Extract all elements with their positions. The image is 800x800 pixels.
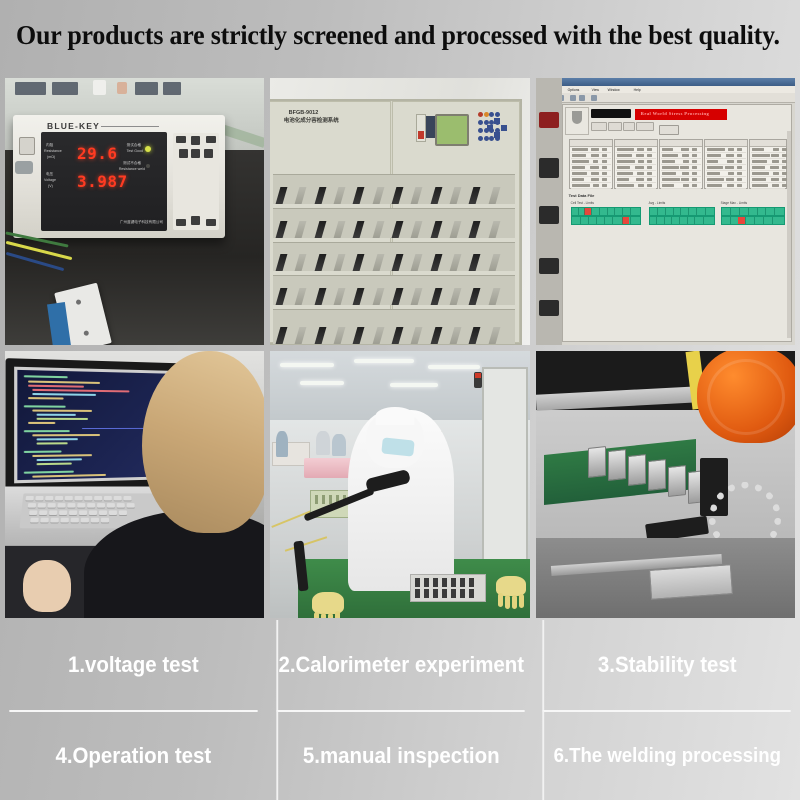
keypad-key-right[interactable]	[204, 149, 213, 158]
cabinet-model-label: BFGB-9012	[289, 109, 319, 117]
device-keypad[interactable]	[173, 133, 219, 230]
shelf-object	[135, 82, 158, 95]
dpad-down[interactable]	[494, 132, 500, 138]
control-button[interactable]	[591, 122, 607, 131]
photo-voltage-test: BLUE-KEY 内阻 Resistance (mΩ) 29.6 电压 Volt…	[5, 78, 264, 345]
data-table[interactable]	[569, 139, 613, 189]
voltage-readout: 3.987	[77, 172, 128, 191]
background-operator	[332, 434, 346, 456]
panel-button[interactable]	[478, 128, 483, 133]
mounting-plate	[649, 564, 733, 600]
test-fail-label: 测试不合格	[123, 161, 141, 166]
photo-stability-test: FileTest OptionsView WindowHelp	[536, 78, 795, 345]
software-workspace: Real World Stress Processing	[562, 104, 792, 342]
weld-fixture	[668, 465, 686, 497]
equipment-rack	[482, 367, 528, 581]
sidebar-button-graph[interactable]	[539, 258, 559, 274]
status-led-indicator	[145, 146, 151, 152]
benchmark-badge	[591, 109, 631, 118]
shelf-cup	[117, 82, 127, 94]
keypad-key-enter[interactable]	[191, 149, 200, 158]
cabinet-control-panel[interactable]	[399, 106, 513, 148]
data-table[interactable]	[704, 139, 748, 189]
brand-rule	[101, 126, 159, 127]
resistance-unit: (mΩ)	[47, 155, 55, 160]
operator-cap	[376, 407, 415, 425]
panel-button[interactable]	[478, 120, 483, 125]
status-bar[interactable]	[649, 216, 715, 225]
resistance-label: 内阻	[46, 143, 53, 148]
navigation-dpad[interactable]	[487, 118, 507, 138]
cabinet-rack-row	[273, 309, 514, 344]
keypad-key[interactable]	[206, 219, 216, 226]
ceiling-lamp	[280, 363, 334, 367]
test-good-label-en: Test Good	[127, 149, 143, 154]
device-input-connector	[15, 161, 33, 174]
robot-weld-head	[697, 351, 795, 443]
battery-terminal-hole	[75, 299, 81, 305]
user-hair	[142, 351, 264, 533]
control-button[interactable]	[608, 122, 622, 131]
sidebar-button-record[interactable]	[539, 112, 559, 128]
background-operator	[316, 431, 330, 455]
panel-button[interactable]	[489, 112, 494, 117]
status-banner-text: Real World Stress Processing	[641, 111, 710, 116]
sidebar-button-report[interactable]	[539, 300, 559, 316]
device-brand-label: BLUE-KEY	[47, 121, 100, 131]
voltage-unit: (V)	[48, 184, 53, 189]
status-group: Stage Max - Limits	[721, 201, 785, 223]
app-logo-icon	[565, 107, 589, 135]
status-bar[interactable]	[721, 216, 785, 225]
test-good-label: 测试合格	[127, 143, 141, 148]
background-operator	[276, 431, 288, 457]
sidebar-button-setup[interactable]	[539, 158, 559, 178]
page-title: Our products are strictly screened and p…	[16, 20, 780, 51]
data-table[interactable]	[749, 139, 787, 189]
status-cell-fail	[584, 208, 591, 215]
photo-operation-test	[5, 351, 264, 618]
caption-manual-inspection: 5.manual inspection	[276, 710, 524, 800]
shelf-object	[163, 82, 181, 95]
cabinet-rack-row	[273, 174, 514, 204]
meter-display-panel: 内阻 Resistance (mΩ) 29.6 电压 Voltage (V) 3…	[41, 132, 167, 231]
status-bar[interactable]	[649, 207, 715, 216]
status-group: Avg - Limits	[649, 201, 715, 223]
weld-fixture	[628, 454, 646, 486]
status-bar[interactable]	[571, 216, 641, 225]
caption-stability-test: 3.Stability test	[543, 620, 791, 710]
weld-fixture	[608, 449, 626, 481]
cabinet-rack-row	[273, 275, 514, 305]
shelf-object	[52, 82, 78, 95]
shelf-cup	[93, 80, 106, 95]
caption-calorimeter-experiment: 2.Calorimeter experiment	[276, 620, 524, 710]
status-cell-fail	[738, 217, 745, 224]
caption-voltage-test: 1.voltage test	[9, 620, 257, 710]
data-table[interactable]	[659, 139, 703, 189]
results-section-title: Test Data File	[569, 193, 595, 198]
dpad-right[interactable]	[501, 125, 507, 131]
keypad-key[interactable]	[206, 136, 216, 143]
battery-meter-device: BLUE-KEY 内阻 Resistance (mΩ) 29.6 电压 Volt…	[13, 115, 225, 238]
ceiling-lamp	[354, 359, 414, 363]
operator-glove-left	[312, 592, 344, 614]
status-group: Cell Test - Limits	[571, 201, 641, 223]
dpad-left[interactable]	[487, 125, 493, 131]
keypad-key[interactable]	[176, 136, 186, 143]
shelf-object	[15, 82, 46, 95]
caption-operation-test: 4.Operation test	[9, 710, 257, 800]
weld-fixture	[588, 446, 606, 478]
status-bar[interactable]	[721, 207, 785, 216]
cabinet-rack-row	[273, 208, 514, 238]
control-lcd-screen	[435, 114, 469, 146]
status-banner: Real World Stress Processing	[635, 109, 727, 120]
cabinet-rack-row	[273, 242, 514, 272]
caption-grid: 1.voltage test 2.Calorimeter experiment …	[0, 620, 800, 800]
control-button[interactable]	[623, 122, 635, 131]
status-group-label: Avg - Limits	[649, 201, 666, 205]
status-cell-fail	[622, 217, 629, 224]
status-group-label: Cell Test - Limits	[571, 201, 594, 205]
battery-terminal-hole	[83, 330, 89, 336]
status-group-label: Stage Max - Limits	[721, 201, 747, 205]
test-fail-label-en: Resistance weld	[119, 167, 145, 172]
window-titlebar	[536, 78, 795, 86]
robot-head-ring	[707, 359, 785, 435]
voltage-label: 电压	[46, 172, 53, 177]
header-banner: Our products are strictly screened and p…	[0, 0, 800, 70]
formation-cabinet: BFGB-9012 电池化成分容检测系统	[270, 99, 521, 345]
toolbar-icon[interactable]	[579, 95, 585, 101]
status-bar[interactable]	[571, 207, 641, 216]
power-switch-red	[418, 131, 424, 139]
voltage-label-en: Voltage	[44, 178, 56, 183]
ceiling-lamp	[390, 383, 438, 387]
component-tray	[410, 574, 486, 602]
user-left-hand	[23, 560, 71, 612]
panel-button[interactable]	[484, 112, 489, 117]
andon-tower-light	[474, 372, 482, 388]
sidebar-button-data[interactable]	[539, 206, 559, 224]
power-switch[interactable]	[416, 114, 426, 142]
sidebar-toolstrip[interactable]	[536, 78, 562, 345]
ceiling-lamp	[300, 381, 344, 385]
panel-button[interactable]	[478, 112, 483, 117]
resistance-readout: 29.6	[77, 144, 118, 163]
keypad-key-down[interactable]	[191, 216, 200, 225]
keypad-key-up[interactable]	[191, 136, 200, 145]
photo-grid: BLUE-KEY 内阻 Resistance (mΩ) 29.6 电压 Volt…	[5, 78, 795, 618]
window-toolbar[interactable]	[536, 93, 795, 103]
product-quality-collage: Our products are strictly screened and p…	[0, 0, 800, 800]
apply-button[interactable]	[659, 125, 679, 135]
photo-manual-inspection	[270, 351, 529, 618]
caption-welding-processing: 6.The welding processing	[543, 710, 791, 800]
cabinet-system-label: 电池化成分容检测系统	[284, 117, 339, 125]
photo-welding-processing	[536, 351, 795, 618]
manufacturer-label: 广州蓝键电子科技有限公司	[120, 220, 163, 225]
data-table[interactable]	[614, 139, 658, 189]
weld-fixture	[648, 460, 666, 492]
dpad-up[interactable]	[494, 118, 500, 124]
keypad-key[interactable]	[176, 219, 186, 226]
photo-calorimeter: BFGB-9012 电池化成分容检测系统	[270, 78, 529, 345]
resistance-label-en: Resistance	[44, 149, 62, 154]
window-menubar[interactable]: FileTest OptionsView WindowHelp	[536, 86, 795, 93]
operator-face-mask	[382, 437, 415, 456]
device-socket	[19, 137, 35, 155]
status-led-secondary	[146, 164, 150, 168]
panel-button[interactable]	[478, 136, 483, 141]
toolbar-icon[interactable]	[591, 95, 597, 101]
vertical-scrollbar[interactable]	[787, 131, 791, 338]
panel-button[interactable]	[495, 112, 500, 117]
trophy-glyph	[572, 111, 582, 124]
ceiling-lamp	[428, 365, 480, 369]
toolbar-icon[interactable]	[570, 95, 576, 101]
control-button[interactable]	[636, 122, 654, 131]
keypad-key-left[interactable]	[179, 149, 188, 158]
